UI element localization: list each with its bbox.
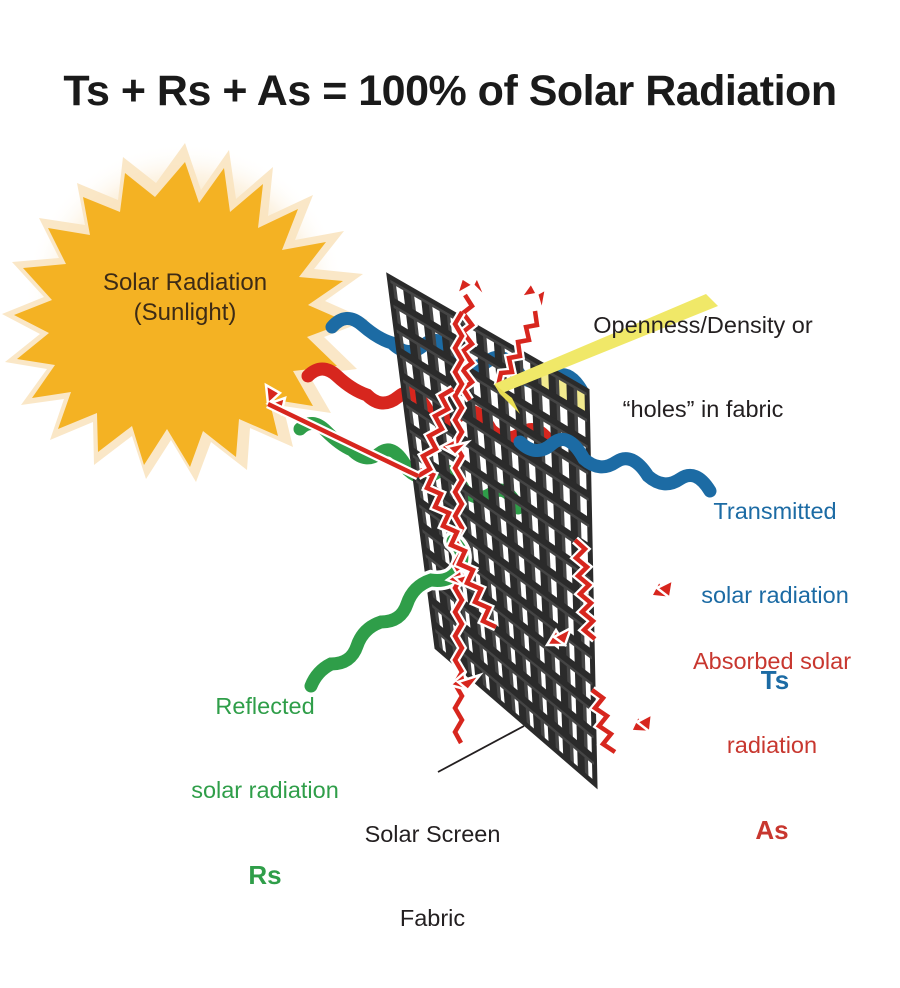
sun-label-line2: (Sunlight) <box>134 299 237 326</box>
openness-line2: “holes” in fabric <box>548 396 858 424</box>
page-title: Ts + Rs + As = 100% of Solar Radiation <box>0 66 900 117</box>
reflected-line1: Reflected <box>150 693 380 721</box>
transmitted-line1: Transmitted <box>655 498 895 526</box>
sun-label-line1: Solar Radiation <box>103 269 267 296</box>
solar-screen-fabric-label: Solar Screen Fabric <box>325 766 540 988</box>
reradiated-arrow-bottom-right <box>592 690 652 752</box>
absorbed-line2: radiation <box>648 732 896 760</box>
openness-line1: Openness/Density or <box>548 312 858 340</box>
absorbed-symbol: As <box>648 815 896 846</box>
absorbed-radiation-label: Absorbed solar radiation As <box>648 593 896 901</box>
fabric-line1: Solar Screen <box>325 821 540 849</box>
absorbed-line1: Absorbed solar <box>648 648 896 676</box>
diagram-root: Solar Radiation (Sunlight) <box>0 0 900 900</box>
fabric-line2: Fabric <box>325 905 540 933</box>
